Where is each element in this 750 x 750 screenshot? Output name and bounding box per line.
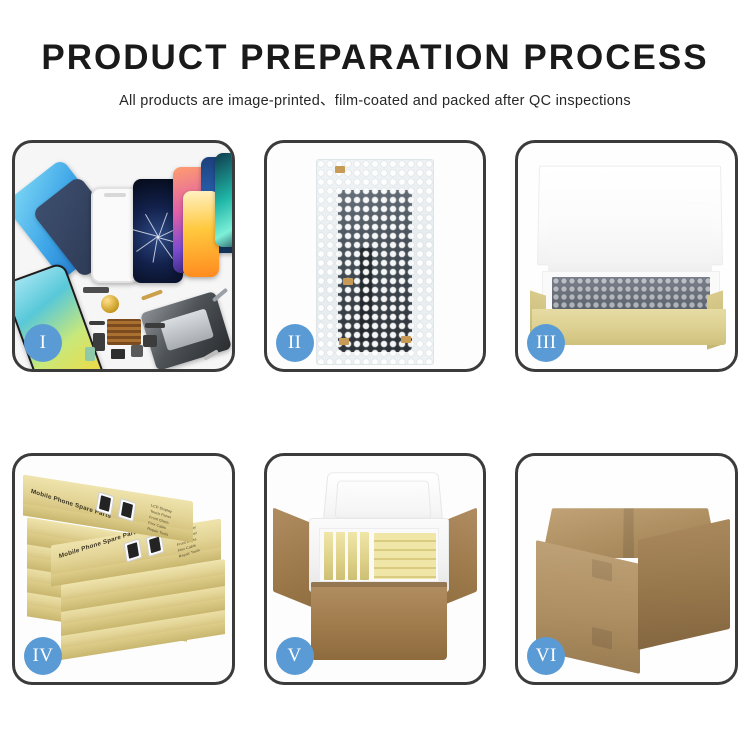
flex-cable-4 (143, 335, 157, 347)
yellow-box-3 (348, 532, 357, 580)
carton-tape-patch-bottom (592, 627, 612, 650)
screw-tray (107, 319, 141, 345)
step-badge-5: V (276, 637, 314, 675)
yellow-box-2 (336, 532, 345, 580)
process-step-panel-1[interactable]: I (12, 140, 235, 372)
carton-tape-seam (623, 508, 634, 558)
part-green-chip (85, 347, 95, 361)
tweezers (203, 349, 219, 360)
process-step-panel-5[interactable]: V (264, 453, 487, 685)
carton-body (311, 582, 447, 660)
tape-top (335, 166, 345, 173)
step-badge-4: IV (24, 637, 62, 675)
step-badge-2: II (276, 324, 314, 362)
carton-side-face (638, 519, 730, 650)
part-vibrator (131, 345, 143, 357)
process-step-panel-6[interactable]: VI (515, 453, 738, 685)
step-badge-1: I (24, 324, 62, 362)
carton-tape-patch-top (592, 559, 612, 582)
box-bullets-1: LCD Display Touch Panel Front Glass Flex… (147, 503, 172, 538)
tape-mid (343, 278, 353, 285)
bubble-texture (317, 160, 433, 364)
yellow-box-1 (324, 532, 333, 580)
yellow-box-group (374, 533, 436, 579)
screwdriver (212, 288, 228, 303)
page-subtitle: All products are image-printed、film-coat… (0, 89, 750, 110)
page-title: PRODUCT PREPARATION PROCESS (0, 40, 750, 77)
yellow-box-4 (360, 532, 369, 580)
speaker-module (101, 295, 119, 313)
header: PRODUCT PREPARATION PROCESS All products… (0, 0, 750, 110)
process-step-panel-2[interactable]: II (264, 140, 487, 372)
tape-lower-right (401, 336, 411, 343)
flex-cable-1 (89, 321, 105, 325)
tape-lower-left (339, 338, 349, 345)
bubble-wrap-bag (316, 159, 434, 365)
part-connector (83, 287, 109, 293)
product-tray (319, 528, 439, 582)
box-screen-thumb-3 (124, 538, 143, 562)
process-step-grid: I II (12, 140, 738, 685)
flex-cable-3 (145, 323, 165, 328)
bubble-wrap-contents (552, 277, 710, 309)
process-step-panel-3[interactable]: III (515, 140, 738, 372)
flex-cable-gold (141, 289, 163, 300)
box-stack: Mobile Phone Spare Parts LCD Display Tou… (21, 470, 233, 666)
process-step-panel-4[interactable]: Mobile Phone Spare Parts LCD Display Tou… (12, 453, 235, 685)
product-preparation-infographic: PRODUCT PREPARATION PROCESS All products… (0, 0, 750, 750)
part-camera (111, 349, 125, 359)
